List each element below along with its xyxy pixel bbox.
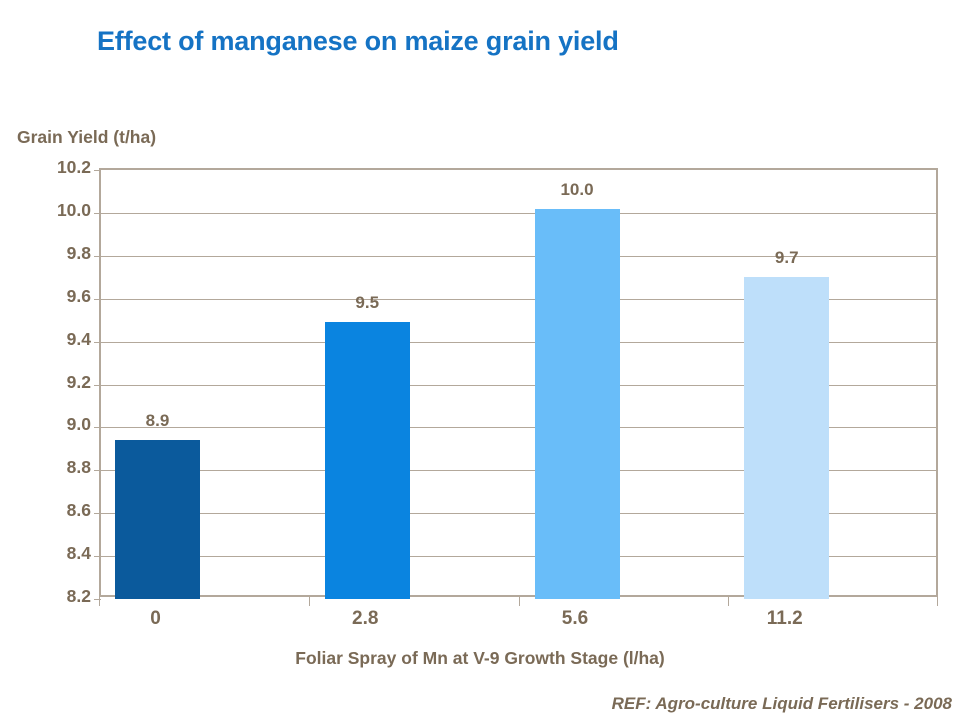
bar[interactable] [744,277,829,599]
y-axis-tick-label: 8.8 [67,459,91,477]
bar[interactable] [115,440,200,599]
chart-title: Effect of manganese on maize grain yield [97,26,619,57]
x-axis-tick [728,597,729,606]
y-axis-tick-label: 9.4 [67,331,91,349]
y-axis-tick-label: 8.4 [67,545,91,563]
y-axis-title: Grain Yield (t/ha) [17,127,156,148]
x-axis-tick-label: 5.6 [508,608,643,631]
bar-value-label: 8.9 [95,412,220,429]
reference-note: REF: Agro-culture Liquid Fertilisers - 2… [612,694,952,714]
y-axis-tick-label: 8.6 [67,502,91,520]
y-axis-tick-label: 9.8 [67,245,91,263]
y-axis-tick [94,385,101,386]
x-axis-ticks [99,597,938,606]
gridline [101,213,936,214]
x-axis-tick-labels: 02.85.611.2 [99,608,938,636]
x-axis-title: Foliar Spray of Mn at V-9 Growth Stage (… [0,648,960,669]
bar[interactable] [325,322,410,599]
x-axis-tick [309,597,310,606]
y-axis-tick-label: 8.2 [67,588,91,606]
x-axis-tick [937,597,938,606]
y-axis-tick [94,342,101,343]
bar-value-label: 9.7 [724,249,849,266]
bar-value-label: 10.0 [515,181,640,198]
y-axis-tick [94,170,101,171]
x-axis-tick [519,597,520,606]
x-axis-tick [99,597,100,606]
x-axis-tick-label: 11.2 [717,608,852,631]
y-axis-tick-label: 9.0 [67,416,91,434]
x-axis-tick-label: 0 [88,608,223,631]
y-axis-tick [94,256,101,257]
bar[interactable] [535,209,620,599]
bar-value-label: 9.5 [305,294,430,311]
y-axis-tick [94,513,101,514]
y-axis-tick [94,213,101,214]
y-axis-tick-label: 9.6 [67,288,91,306]
x-axis-tick-label: 2.8 [298,608,433,631]
y-axis-tick [94,556,101,557]
plot-area: 8.99.510.09.7 [99,168,938,597]
y-axis-tick-label: 10.0 [57,202,91,220]
y-axis-tick-label: 10.2 [57,159,91,177]
y-axis-tick-labels: 10.210.09.89.69.49.29.08.88.68.48.2 [28,168,91,597]
y-axis-tick [94,299,101,300]
y-axis-tick-label: 9.2 [67,374,91,392]
y-axis-tick [94,470,101,471]
